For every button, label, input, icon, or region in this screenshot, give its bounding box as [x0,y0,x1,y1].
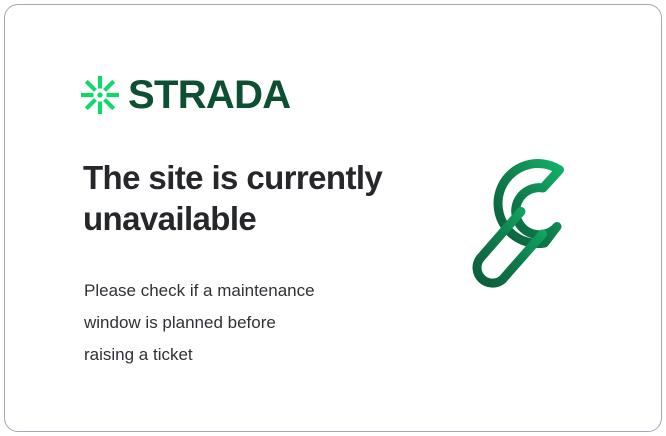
page-description-line-3: raising a ticket [84,339,414,371]
page-title-line-2: unavailable [83,198,443,239]
brand-lockup: STRADA [81,72,290,118]
strada-asterisk-icon [81,76,119,114]
brand-wordmark: STRADA [128,75,290,115]
error-page: STRADA The site is currently unavailable… [0,0,666,436]
page-title-line-1: The site is currently [83,157,443,198]
page-description: Please check if a maintenance window is … [84,275,414,371]
status-card: STRADA The site is currently unavailable… [4,4,662,432]
wrench-icon [460,155,620,315]
page-title: The site is currently unavailable [83,157,443,239]
page-description-line-1: Please check if a maintenance [84,275,414,307]
page-description-line-2: window is planned before [84,307,414,339]
